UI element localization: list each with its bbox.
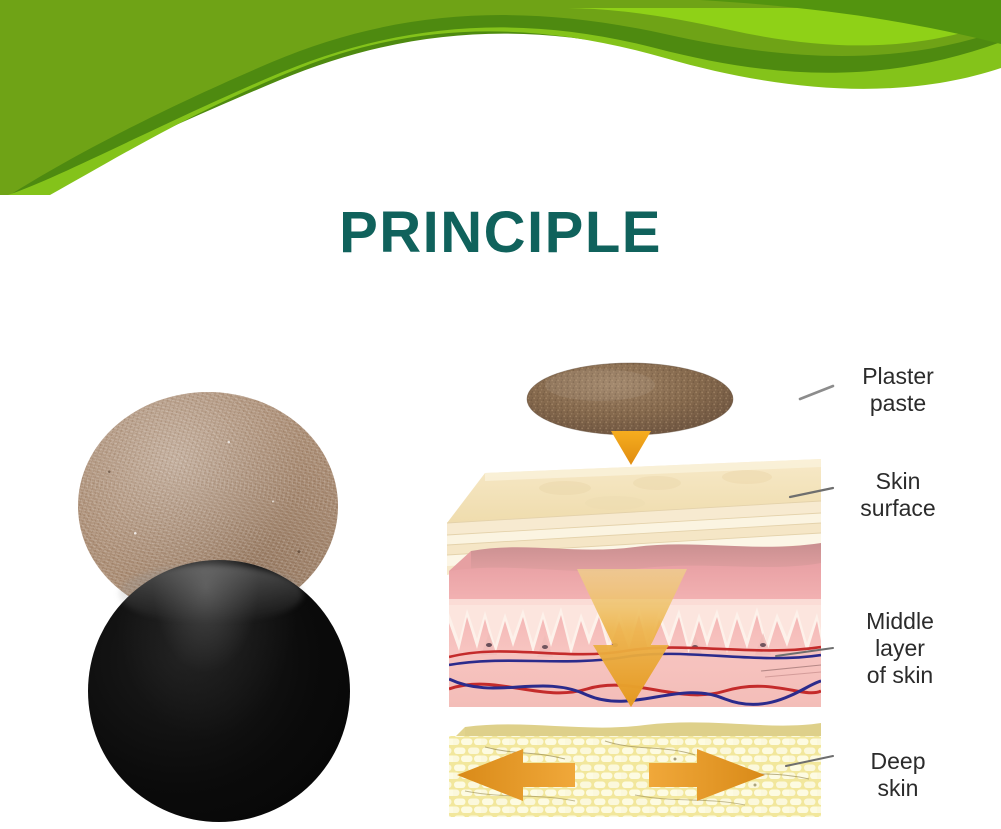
black-plaster-patch <box>88 560 350 822</box>
dermis-layer <box>449 543 821 707</box>
gloss-highlight <box>119 565 302 623</box>
product-photo <box>60 380 405 820</box>
wave-band-mid-green <box>0 0 1001 195</box>
skin-cross-section-diagram <box>425 355 845 825</box>
page-title: PRINCIPLE <box>0 200 1001 266</box>
page-root: PRINCIPLE <box>0 0 1001 829</box>
wave-band-lime <box>8 27 1001 195</box>
header-wave-decoration <box>0 0 1001 195</box>
wave-band-dark-accent <box>700 0 1001 44</box>
label-skin-surface: Skin surface <box>838 468 958 522</box>
wave-band-bright-lime <box>560 8 1001 45</box>
label-middle-layer-of-skin: Middle layer of skin <box>838 608 962 689</box>
label-deep-skin: Deep skin <box>838 748 958 802</box>
plaster-patch-disc <box>527 363 733 435</box>
wave-band-dark-green <box>0 0 1001 195</box>
hypodermis-layer <box>443 722 827 821</box>
label-plaster-paste: Plaster paste <box>838 363 958 417</box>
arrow-patch-to-skin <box>611 431 651 465</box>
